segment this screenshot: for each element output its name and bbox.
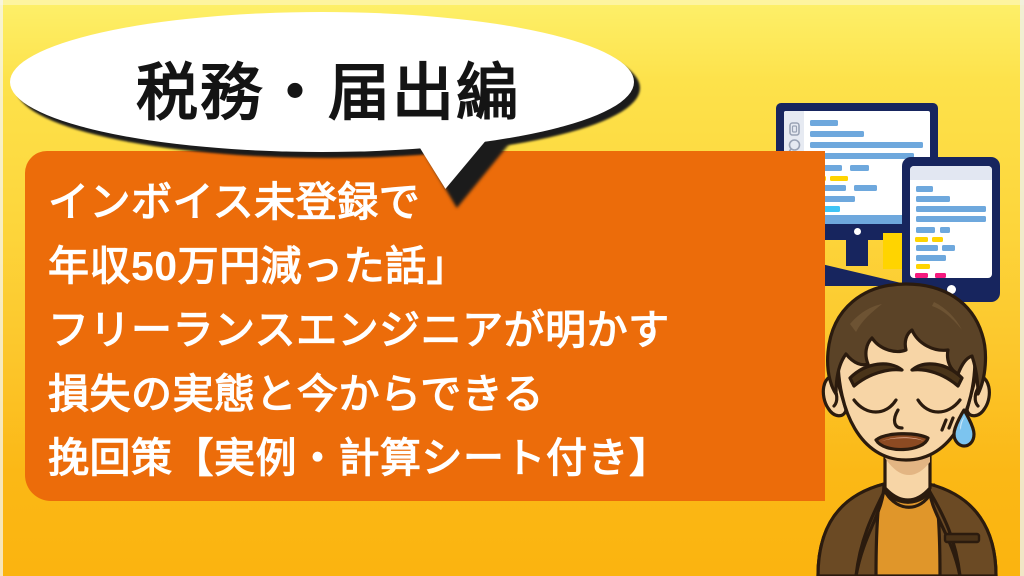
code-highlight-yellow (916, 264, 930, 269)
code-highlight-yellow (830, 176, 848, 181)
worried-man-svg (788, 282, 1024, 576)
monitor-power-dot (854, 228, 861, 235)
tablet-screen (910, 166, 992, 278)
code-highlight-pink (935, 273, 946, 278)
thumbnail-canvas: インボイス未登録で 年収50万円減った話」 フリーランスエンジニアが明かす 損失… (0, 0, 1024, 576)
code-line (810, 131, 864, 137)
speech-bubble-body: 税務・届出編 (10, 12, 634, 174)
code-line (810, 142, 923, 148)
code-line (916, 206, 986, 212)
code-highlight-pink (915, 273, 928, 278)
code-line (916, 227, 935, 233)
code-highlight-yellow (932, 237, 943, 242)
left-edge-strip (0, 0, 3, 576)
code-line (916, 186, 933, 192)
code-highlight-yellow (915, 237, 928, 242)
badge-label: 税務・届出編 (10, 12, 646, 162)
mouth (876, 434, 928, 450)
code-line (916, 216, 986, 222)
monitor-stand-neck (846, 240, 868, 266)
tablet-icon (902, 157, 1000, 302)
code-line (850, 165, 869, 171)
code-line (916, 196, 950, 202)
tablet-top-bar (910, 166, 992, 180)
code-line (916, 245, 938, 251)
speech-bubble: 税務・届出編 (4, 8, 684, 188)
page-title: インボイス未登録で 年収50万円減った話」 フリーランスエンジニアが明かす 損失… (48, 170, 788, 490)
code-line (810, 120, 838, 126)
person-illustration (788, 282, 1024, 576)
code-line (942, 245, 955, 251)
code-line (854, 185, 877, 191)
code-line (916, 255, 946, 261)
top-edge-strip (0, 0, 1024, 5)
code-line (810, 153, 914, 159)
code-line (940, 227, 950, 233)
